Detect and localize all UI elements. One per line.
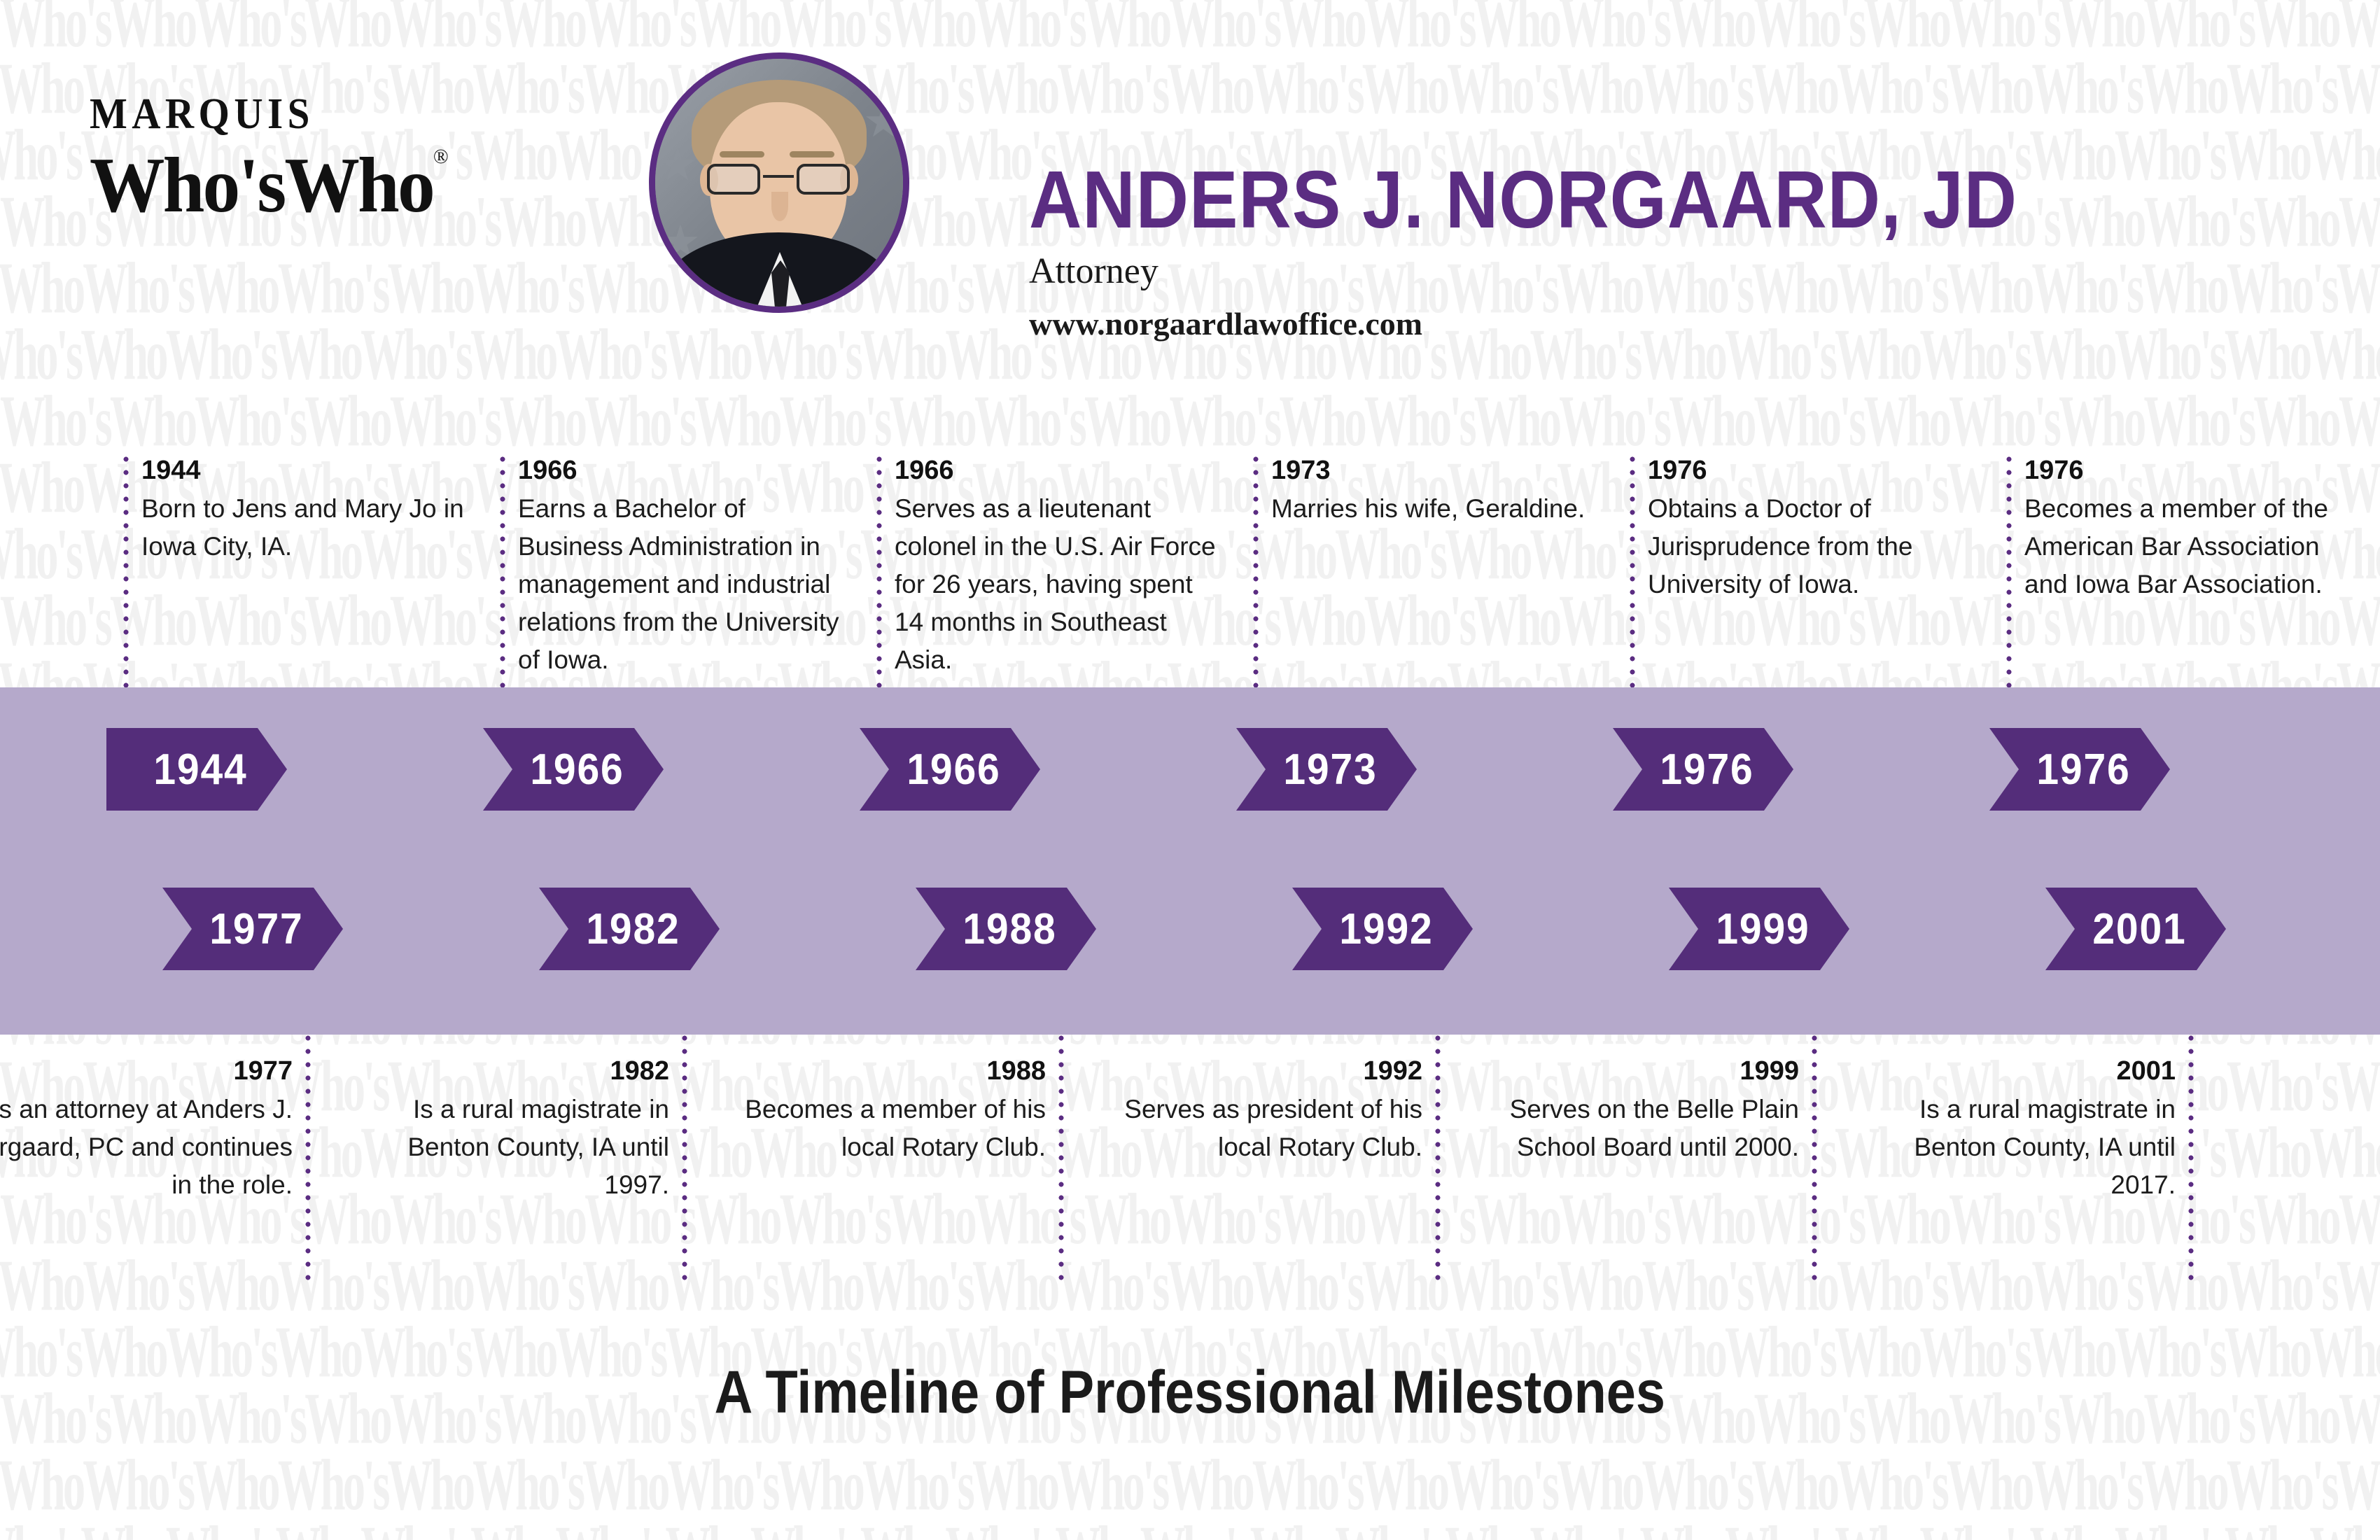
footer-title: A Timeline of Professional Milestones (0, 1358, 2380, 1427)
portrait-glasses-bridge (763, 175, 794, 178)
milestone-description: Obtains a Doctor of Jurisprudence from t… (1648, 490, 1977, 603)
milestone-top: 1976Obtains a Doctor of Jurisprudence fr… (1648, 454, 1977, 603)
milestone-top: 1966Earns a Bachelor of Business Adminis… (518, 454, 847, 679)
milestone-description: Becomes a member of his local Rotary Clu… (717, 1091, 1046, 1166)
portrait-photo (655, 59, 903, 307)
connector-dotted-line (1435, 1022, 1441, 1281)
milestone-year: 1977 (0, 1054, 293, 1088)
chevron-year-label: 1944 (153, 745, 247, 794)
milestone-bottom: 1992Serves as president of his local Rot… (1093, 1054, 1422, 1166)
chevron-year-label: 1966 (530, 745, 624, 794)
connector-dotted-line (1812, 1022, 1817, 1281)
logo-whoswho-text: Who'sWho® (90, 141, 466, 231)
chevron-year-label: 1977 (209, 904, 303, 954)
connector-dotted-line (1058, 1022, 1064, 1281)
milestone-year: 1973 (1271, 454, 1600, 488)
portrait-eyebrow (720, 151, 764, 157)
milestone-bottom: 2001Is a rural magistrate in Benton Coun… (1847, 1054, 2176, 1204)
milestone-bottom: 1977Is an attorney at Anders J. Norgaard… (0, 1054, 293, 1204)
connector-dotted-line (682, 1022, 687, 1281)
infographic-page: Who'sWhoWho'sWhoWho'sWhoWho'sWhoWho'sWho… (0, 0, 2380, 1540)
registered-mark-icon: ® (433, 145, 447, 169)
milestone-year: 1988 (717, 1054, 1046, 1088)
chevron-year-label: 1999 (1716, 904, 1809, 954)
milestone-year: 1982 (340, 1054, 669, 1088)
milestone-description: Born to Jens and Mary Jo in Iowa City, I… (141, 490, 470, 566)
connector-dotted-line (1630, 456, 1635, 700)
connector-dotted-line (500, 456, 505, 700)
chevron-year-label: 1966 (906, 745, 1000, 794)
milestone-year: 1966 (895, 454, 1224, 488)
flag-star-icon (865, 104, 902, 140)
connector-dotted-line (305, 1022, 311, 1281)
chevron-year-label: 1976 (2036, 745, 2130, 794)
milestone-year: 1992 (1093, 1054, 1422, 1088)
portrait-lens (707, 164, 760, 195)
chevron-year-label: 1988 (962, 904, 1056, 954)
page-title: ANDERS J. NORGAARD, JD (1029, 153, 2017, 246)
portrait-lens (797, 164, 850, 195)
subtitle-role: Attorney (1029, 251, 1158, 292)
chevron-year-label: 2001 (2092, 904, 2186, 954)
watermark-row: Who'sWhoWho'sWhoWho'sWhoWho'sWhoWho'sWho… (0, 1449, 2380, 1522)
milestone-year: 1976 (2024, 454, 2353, 488)
connector-dotted-line (1253, 456, 1259, 700)
milestone-description: Is a rural magistrate in Benton County, … (340, 1091, 669, 1204)
chevron-year-label: 1976 (1660, 745, 1753, 794)
milestone-year: 1976 (1648, 454, 1977, 488)
milestone-description: Marries his wife, Geraldine. (1271, 490, 1600, 528)
milestone-year: 1944 (141, 454, 470, 488)
marquis-whoswho-logo: MARQUIS Who'sWho® (90, 90, 482, 231)
milestone-top: 1944Born to Jens and Mary Jo in Iowa Cit… (141, 454, 470, 566)
watermark-row: Who'sWhoWho'sWhoWho'sWhoWho'sWhoWho'sWho… (0, 1515, 2380, 1540)
milestone-description: Becomes a member of the American Bar Ass… (2024, 490, 2353, 603)
logo-marquis-text: MARQUIS (90, 90, 450, 139)
chevron-year-label: 1973 (1283, 745, 1377, 794)
connector-dotted-line (876, 456, 882, 700)
flag-star-icon (659, 147, 696, 183)
milestone-bottom: 1999Serves on the Belle Plain School Boa… (1470, 1054, 1799, 1166)
milestone-year: 1999 (1470, 1054, 1799, 1088)
logo-whoswho-label: Who'sWho (90, 142, 433, 229)
milestone-description: Is an attorney at Anders J. Norgaard, PC… (0, 1091, 293, 1204)
chevron-year-label: 1982 (586, 904, 680, 954)
milestone-description: Serves as a lieutenant colonel in the U.… (895, 490, 1224, 679)
website-link[interactable]: www.norgaardlawoffice.com (1029, 305, 1422, 342)
header: MARQUIS Who'sWho® (0, 0, 2380, 420)
portrait-eyebrow (790, 151, 834, 157)
timeline-chevron-top[interactable]: 1944 (106, 728, 287, 811)
connector-dotted-line (2006, 456, 2012, 700)
milestone-description: Serves as president of his local Rotary … (1093, 1091, 1422, 1166)
milestone-description: Serves on the Belle Plain School Board u… (1470, 1091, 1799, 1166)
footer-title-text: A Timeline of Professional Milestones (715, 1358, 1665, 1427)
avatar (649, 52, 909, 313)
portrait-nose (771, 192, 788, 221)
milestone-year: 1966 (518, 454, 847, 488)
connector-dotted-line (2188, 1022, 2194, 1281)
milestone-description: Is a rural magistrate in Benton County, … (1847, 1091, 2176, 1204)
milestone-description: Earns a Bachelor of Business Administrat… (518, 490, 847, 679)
watermark-row: Who'sWhoWho'sWhoWho'sWhoWho'sWhoWho'sWho… (0, 1249, 2380, 1322)
milestone-bottom: 1982Is a rural magistrate in Benton Coun… (340, 1054, 669, 1204)
milestone-top: 1973Marries his wife, Geraldine. (1271, 454, 1600, 528)
milestone-bottom: 1988Becomes a member of his local Rotary… (717, 1054, 1046, 1166)
connector-dotted-line (123, 456, 129, 700)
milestone-top: 1976Becomes a member of the American Bar… (2024, 454, 2353, 603)
milestone-top: 1966Serves as a lieutenant colonel in th… (895, 454, 1224, 679)
chevron-year-label: 1992 (1339, 904, 1433, 954)
milestone-year: 2001 (1847, 1054, 2176, 1088)
